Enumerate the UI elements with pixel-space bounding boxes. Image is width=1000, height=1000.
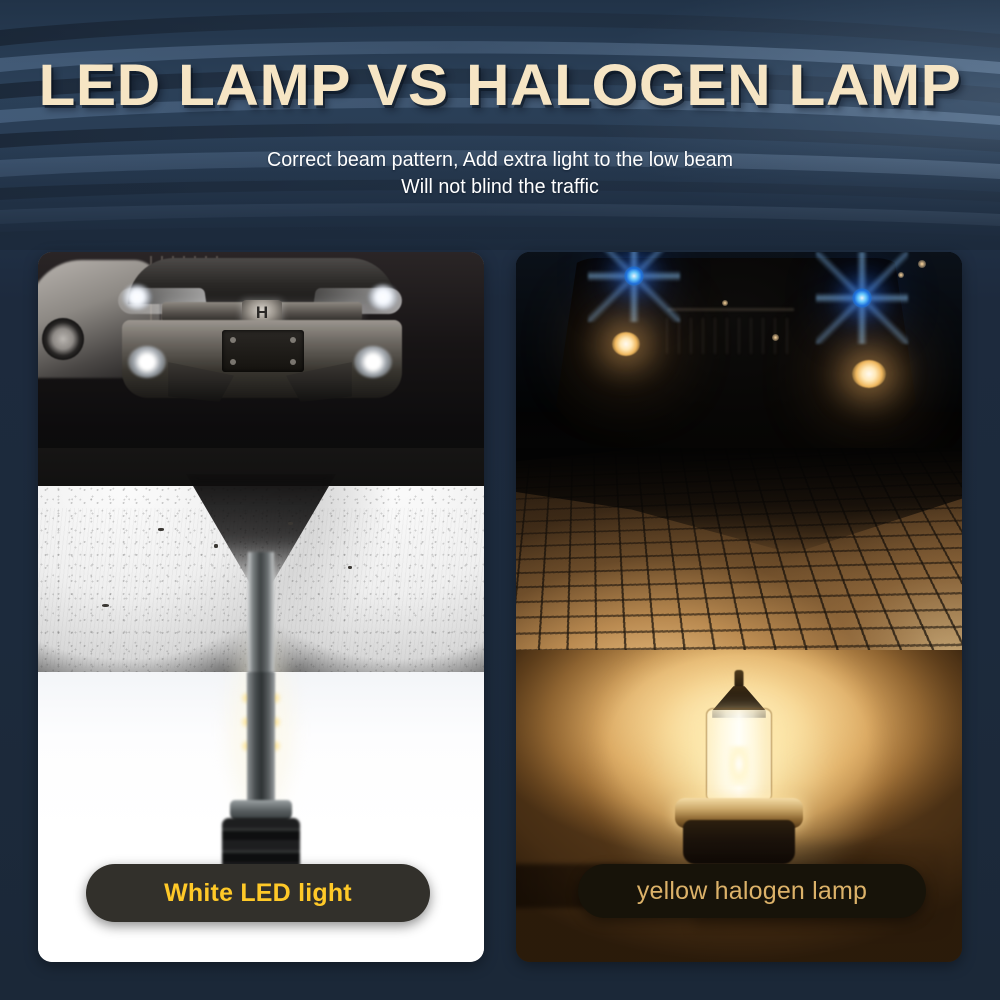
page-title: LED LAMP VS HALOGEN LAMP — [0, 56, 1000, 117]
panel-led[interactable]: White LED light — [38, 252, 484, 962]
ground-speck — [102, 604, 109, 607]
car-grille-bar-hint — [668, 308, 794, 311]
ground-speck — [348, 566, 352, 569]
label-pill-halogen-text: yellow halogen lamp — [637, 877, 867, 906]
fog-lamp-right — [354, 346, 392, 378]
plate-bolt — [290, 359, 296, 365]
plate-bolt — [290, 337, 296, 343]
blue-accent-light-left — [624, 266, 644, 286]
led-bulb-body — [247, 672, 275, 808]
subtitle-line-1: Correct beam pattern, Add extra light to… — [20, 146, 980, 173]
blue-accent-light-right — [852, 288, 872, 308]
comparison-panels: White LED light — [38, 252, 962, 962]
subtitle-line-2: Will not blind the traffic — [20, 173, 980, 200]
ground-speck — [288, 522, 293, 525]
halogen-photo-headlights — [516, 252, 962, 650]
plate-bolt — [230, 359, 236, 365]
distant-light — [772, 334, 779, 341]
label-pill-led[interactable]: White LED light — [86, 864, 430, 922]
blue-led-starburst-left — [588, 252, 680, 322]
distant-light — [722, 300, 728, 306]
header-right-glow — [580, 0, 1000, 250]
distant-light — [918, 260, 926, 268]
ground-speck — [214, 544, 218, 548]
page-title-container: LED LAMP VS HALOGEN LAMP — [0, 56, 1000, 117]
wave-pattern-decoration — [0, 0, 1000, 250]
led-headlight-left-core — [122, 284, 152, 310]
label-pill-halogen[interactable]: yellow halogen lamp — [578, 864, 926, 918]
distant-light — [898, 272, 904, 278]
ground-speck — [158, 528, 164, 531]
plate-bolt — [230, 337, 236, 343]
poster-root: LED LAMP VS HALOGEN LAMP Correct beam pa… — [0, 0, 1000, 1000]
panel-halogen[interactable]: yellow halogen lamp — [516, 252, 962, 962]
subtitle-container: Correct beam pattern, Add extra light to… — [0, 146, 1000, 200]
fog-lamp-left — [128, 346, 166, 378]
halogen-headlight-right — [852, 360, 886, 388]
brick-pavement — [516, 448, 962, 650]
civic-front-end — [110, 258, 410, 454]
license-plate-holder — [222, 330, 304, 372]
header-background — [0, 0, 1000, 250]
led-headlight-right-core — [368, 284, 398, 310]
label-pill-led-text: White LED light — [164, 879, 352, 908]
halogen-headlight-left — [612, 332, 640, 356]
background-car-wheel — [42, 318, 84, 360]
